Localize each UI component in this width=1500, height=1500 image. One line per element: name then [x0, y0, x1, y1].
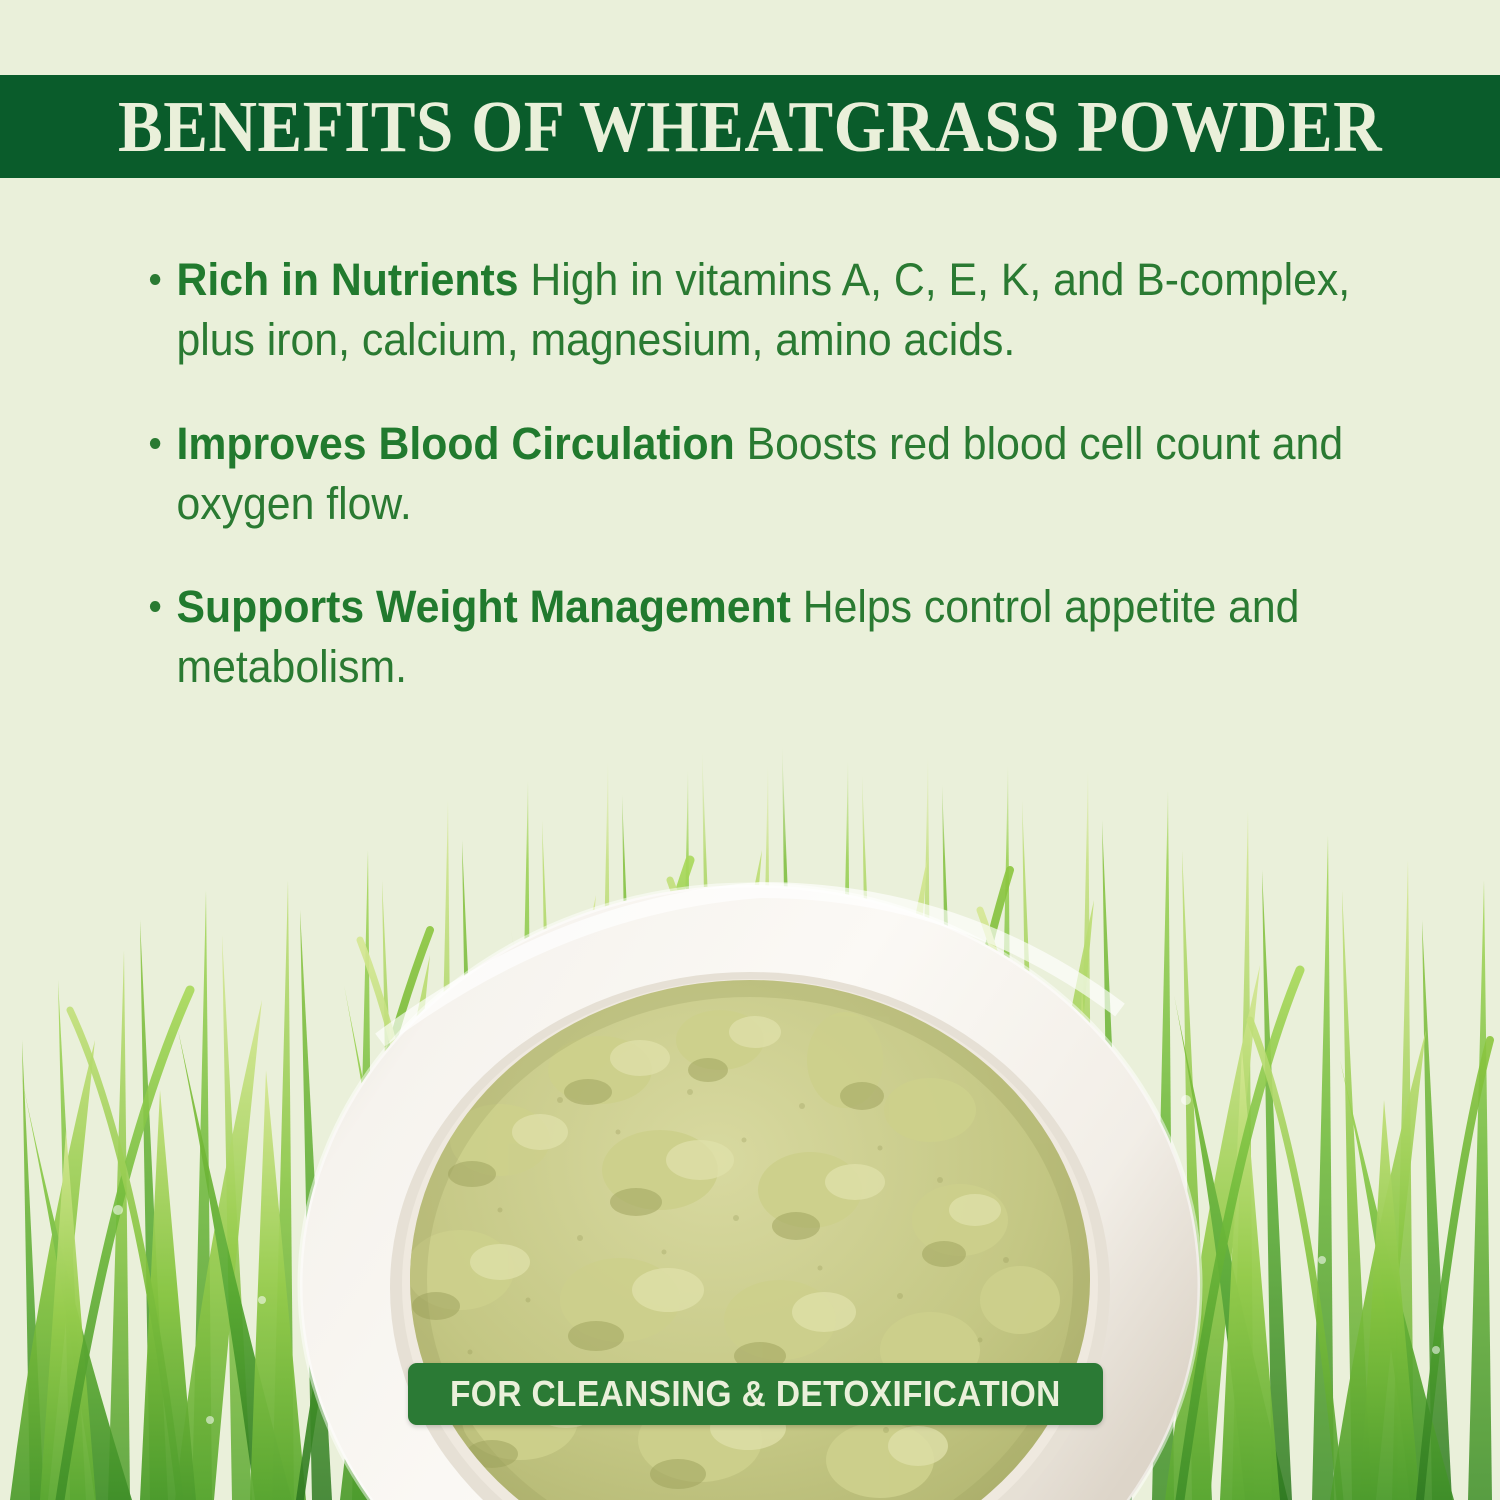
infographic-poster: BENEFITS OF WHEATGRASS POWDER Rich in Nu… — [0, 0, 1500, 1500]
page-title: BENEFITS OF WHEATGRASS POWDER — [118, 90, 1382, 163]
bullet-dot-icon — [150, 438, 160, 449]
bullet-dot-icon — [150, 274, 160, 285]
benefit-lead-2: Improves Blood Circulation — [177, 418, 735, 469]
detox-badge-label: FOR CLEANSING & DETOXIFICATION — [450, 1373, 1061, 1415]
bullet-dot-icon — [150, 601, 160, 612]
benefit-lead-1: Rich in Nutrients — [177, 254, 519, 305]
benefits-list: Rich in Nutrients High in vitamins A, C,… — [148, 250, 1448, 697]
benefit-lead-3: Supports Weight Management — [177, 581, 791, 632]
benefit-item-1: Rich in Nutrients High in vitamins A, C,… — [148, 250, 1383, 370]
title-banner: BENEFITS OF WHEATGRASS POWDER — [0, 75, 1500, 178]
benefit-item-2: Improves Blood Circulation Boosts red bl… — [148, 414, 1383, 534]
benefit-item-3: Supports Weight Management Helps control… — [148, 577, 1383, 697]
detox-badge: FOR CLEANSING & DETOXIFICATION — [408, 1363, 1103, 1425]
